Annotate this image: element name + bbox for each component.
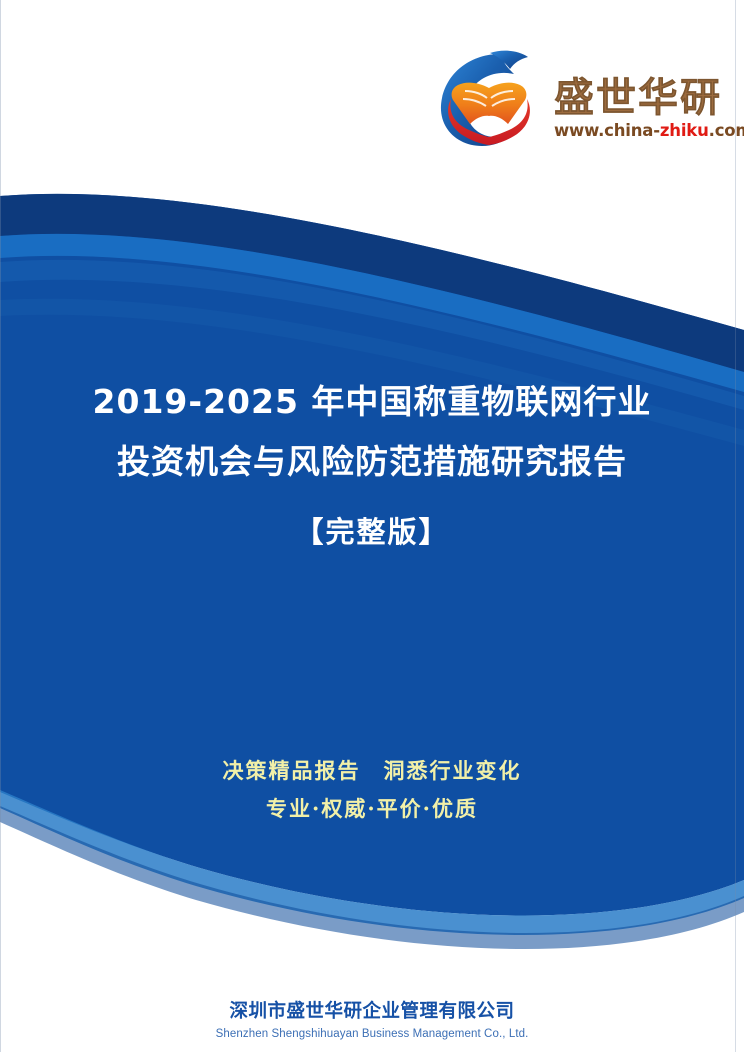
logo-url-dash: - [653,121,660,140]
tagline-line-2: 专业·权威·平价·优质 [0,790,744,828]
logo-url-prefix: www. [554,121,604,140]
logo-website-url[interactable]: www.china-zhiku.com [554,123,744,140]
report-title-line-1: 2019-2025 年中国称重物联网行业 [0,372,744,432]
logo-url-china: china [604,121,653,140]
logo-text-group: 盛世华研 www.china-zhiku.com [554,56,744,140]
edition-badge: 【完整版】 [0,512,744,552]
logo-url-suffix: .com [709,121,744,140]
report-title: 2019-2025 年中国称重物联网行业 投资机会与风险防范措施研究报告 [0,372,744,492]
edition-badge-label: 【完整版】 [294,515,449,549]
page-edge-right-rule [735,0,736,1052]
footer-publisher: 深圳市盛世华研企业管理有限公司 Shenzhen Shengshihuayan … [0,1000,744,1041]
report-title-line-2: 投资机会与风险防范措施研究报告 [0,432,744,492]
tagline-line-1: 决策精品报告 洞悉行业变化 [0,752,744,790]
publisher-name-en: Shenzhen Shengshihuayan Business Managem… [0,1027,744,1041]
publisher-name-cn: 深圳市盛世华研企业管理有限公司 [0,1000,744,1024]
page-edge-left-rule [0,0,1,1052]
logo-company-name-cn: 盛世华研 [554,78,744,118]
tagline-group: 决策精品报告 洞悉行业变化 专业·权威·平价·优质 [0,752,744,828]
shengshihuayan-logo-mark-icon [430,44,548,152]
logo-url-zhiku: zhiku [660,121,709,140]
report-cover-page: 盛世华研 www.china-zhiku.com 2019-2025 年中国称重… [0,0,744,1052]
brand-logo[interactable]: 盛世华研 www.china-zhiku.com [430,42,720,154]
